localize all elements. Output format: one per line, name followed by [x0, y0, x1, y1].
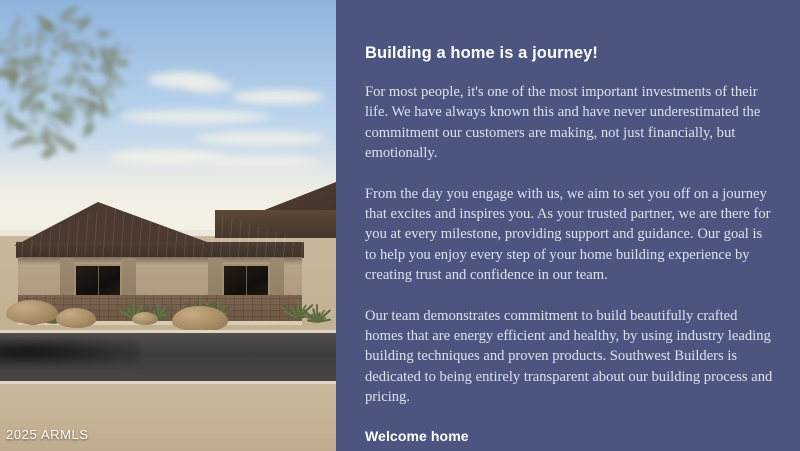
boulder: [132, 312, 158, 325]
photo-watermark: 2025 ARMLS: [6, 427, 89, 442]
boulder: [172, 306, 228, 332]
panel-paragraph: For most people, it's one of the most im…: [365, 82, 775, 164]
cloud: [185, 80, 233, 93]
boulder: [56, 308, 96, 328]
property-photo[interactable]: 2025 ARMLS: [0, 0, 336, 451]
cloud: [120, 110, 270, 124]
cloud: [196, 132, 326, 145]
agave-plant: [306, 302, 326, 322]
panel-title: Building a home is a journey!: [365, 44, 775, 63]
cloud: [232, 90, 324, 104]
panel-paragraph: From the day you engage with us, we aim …: [365, 184, 775, 286]
skid-mark: [0, 338, 140, 366]
listing-detail-screen: 2025 ARMLS Building a home is a journey!…: [0, 0, 800, 451]
panel-closing: Welcome home: [365, 428, 775, 444]
panel-body: For most people, it's one of the most im…: [365, 82, 775, 408]
boulder: [6, 300, 58, 324]
about-panel: Building a home is a journey! For most p…: [336, 0, 800, 451]
panel-paragraph: Our team demonstrates commitment to buil…: [365, 306, 775, 408]
